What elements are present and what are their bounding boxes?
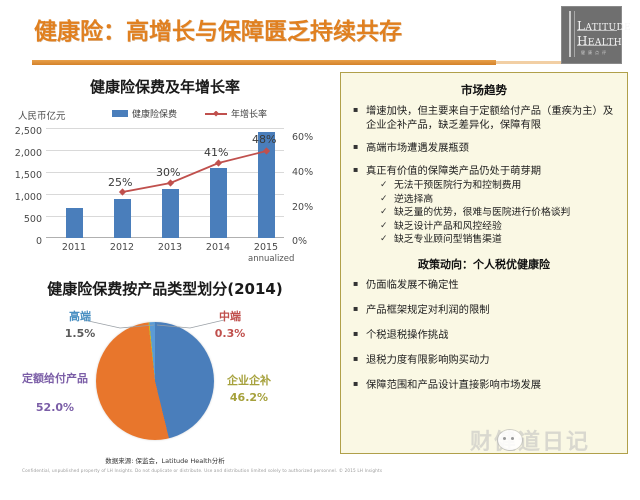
x-label-2013: 2013 (147, 242, 193, 253)
logo-bar-dark (574, 11, 575, 57)
pie-chart-title: 健康险保费按产品类型划分(2014) (0, 278, 330, 299)
y-tick-1500: 1,500 (6, 170, 42, 181)
sub-bullet-item: 逆选择高 (380, 193, 619, 207)
bar-chart-unit-label: 人民币亿元 (18, 108, 66, 122)
pie-label-mid-name: 中端 (208, 310, 252, 323)
sub-bullet-item: 缺乏设计产品和风控经验 (380, 220, 619, 234)
bar-chart-plot-area (46, 128, 284, 238)
legend-label-premium: 健康险保费 (132, 107, 177, 120)
growth-label-2013: 30% (156, 166, 180, 179)
y2-tick-20: 20% (292, 202, 326, 213)
pie-label-mid-value: 0.3% (204, 327, 256, 340)
growth-label-2015: 48% (252, 133, 276, 146)
legend-line-swatch-icon (205, 110, 227, 117)
y2-tick-60: 60% (292, 132, 326, 143)
logo-chinese: 健康点评 (581, 50, 609, 56)
bullet-item: 退税力度有限影响购买动力 (351, 353, 619, 367)
bullet-item: 保障范围和产品设计直接影响市场发展 (351, 378, 619, 392)
x-label-2012: 2012 (99, 242, 145, 253)
logo-underline-2 (577, 45, 617, 46)
confidential-footer: Confidential, unpublished property of LH… (22, 468, 382, 473)
growth-label-2014: 41% (204, 146, 228, 159)
bullet-item: 高端市场遭遇发展瓶颈 (351, 141, 619, 155)
growth-label-2012: 25% (108, 176, 132, 189)
title-rule (32, 60, 496, 65)
pie-label-premium-value: 1.5% (52, 327, 108, 340)
market-trends-panel: 市场趋势 增速加快，但主要来自于定额给付产品（重疾为主）及企业企补产品，缺乏差异… (340, 72, 628, 454)
legend-item-premium: 健康险保费 (112, 107, 177, 120)
bullet-item: 真正有价值的保障类产品仍处于萌芽期 无法干预医院行为和控制费用 逆选择高 缺乏量… (351, 164, 619, 247)
slide-root: 健康险：高增长与保障匮乏持续共存 LLatitudeATITUDE HEALTH… (0, 0, 640, 480)
pie-label-fixed-value: 52.0% (22, 401, 88, 414)
legend-label-growth: 年增长率 (231, 107, 267, 120)
y-tick-1000: 1,000 (6, 192, 42, 203)
panel-heading-policy: 政策动向：个人税优健康险 (341, 256, 627, 272)
bullet-text: 真正有价值的保障类产品仍处于萌芽期 (366, 165, 541, 177)
y-tick-500: 500 (6, 214, 42, 225)
bar-chart-legend: 健康险保费 年增长率 (112, 107, 267, 120)
pie-chart-source: 数据来源: 保监会，Latitude Health分析 (0, 455, 330, 465)
sub-bullet-item: 无法干预医院行为和控制费用 (380, 179, 619, 193)
latitude-health-logo: LLatitudeATITUDE HEALTH 健康点评 (561, 6, 622, 64)
market-trends-bullet-list: 增速加快，但主要来自于定额给付产品（重疾为主）及企业企补产品，缺乏差异化，保障有… (341, 104, 627, 247)
logo-bar-light (569, 11, 571, 57)
pie-label-premium-name: 高端 (58, 310, 102, 323)
bar-chart-title: 健康险保费及年增长率 (0, 76, 330, 97)
sub-bullet-item: 缺乏专业顾问型销售渠道 (380, 233, 619, 247)
sub-bullet-list: 无法干预医院行为和控制费用 逆选择高 缺乏量的优势，很难与医院进行价格谈判 缺乏… (366, 179, 619, 247)
growth-rate-line (46, 128, 284, 238)
watermark-badge-icon (498, 430, 522, 450)
x-label-2015: 2015 (243, 242, 289, 253)
policy-bullet-list: 仍面临发展不确定性 产品框架规定对利润的限制 个税退税操作挑战 退税力度有限影响… (341, 278, 627, 392)
annualized-note: annualized (248, 254, 294, 264)
pie-label-fixed-name-1: 定额给付产品 (22, 372, 88, 385)
logo-underline-1 (577, 30, 617, 31)
bullet-item: 仍面临发展不确定性 (351, 278, 619, 292)
bullet-item: 增速加快，但主要来自于定额给付产品（重疾为主）及企业企补产品，缺乏差异化，保障有… (351, 104, 619, 132)
y-tick-2000: 2,000 (6, 148, 42, 159)
bullet-item: 个税退税操作挑战 (351, 328, 619, 342)
x-label-2014: 2014 (195, 242, 241, 253)
x-label-2011: 2011 (51, 242, 97, 253)
sub-bullet-item: 缺乏量的优势，很难与医院进行价格谈判 (380, 206, 619, 220)
y-tick-0: 0 (6, 236, 42, 247)
growth-line-path (123, 151, 267, 192)
bullet-item: 产品框架规定对利润的限制 (351, 303, 619, 317)
y2-tick-40: 40% (292, 167, 326, 178)
pie-label-corporate-value: 46.2% (218, 391, 280, 404)
y2-tick-0: 0% (292, 236, 326, 247)
legend-bar-swatch-icon (112, 110, 128, 117)
panel-heading-market-trends: 市场趋势 (341, 82, 627, 98)
page-title: 健康险：高增长与保障匮乏持续共存 (34, 12, 402, 46)
pie-label-corporate-name: 企业企补 (218, 374, 280, 387)
legend-item-growth: 年增长率 (205, 107, 267, 120)
y-tick-2500: 2,500 (6, 126, 42, 137)
